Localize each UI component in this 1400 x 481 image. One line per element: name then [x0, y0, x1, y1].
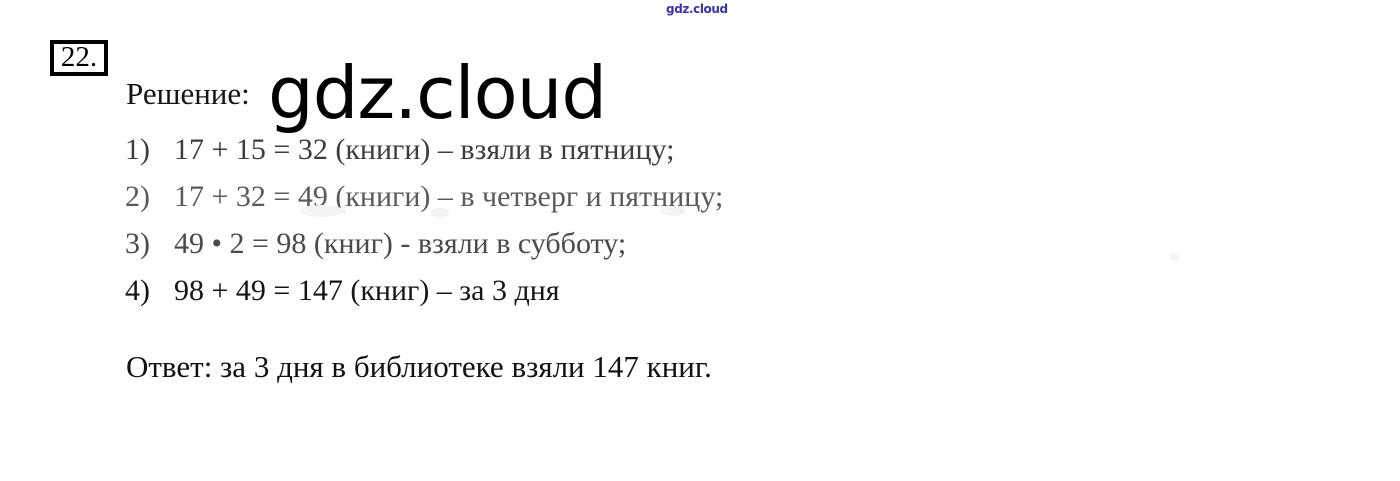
- step-expression: 17 + 32 = 49 (книги) – в четверг и пятни…: [174, 180, 723, 213]
- step-index: 3): [125, 227, 150, 260]
- step-expression: 49 • 2 = 98 (книг) - взяли в субботу;: [174, 227, 626, 260]
- solution-step: 3) 49 • 2 = 98 (книг) - взяли в субботу;: [125, 220, 1225, 267]
- solution-step: 4) 98 + 49 = 147 (книг) – за 3 дня: [125, 267, 1225, 314]
- step-index: 1): [125, 133, 150, 166]
- solution-heading: Решение:: [126, 78, 250, 109]
- scan-artifact: [660, 206, 686, 216]
- scan-artifact: [300, 205, 344, 217]
- step-expression: 98 + 49 = 147 (книг) – за 3 дня: [174, 274, 560, 307]
- step-index: 4): [125, 274, 150, 307]
- exercise-number-label: 22.: [61, 43, 97, 74]
- step-expression: 17 + 15 = 32 (книги) – взяли в пятницу;: [174, 133, 674, 166]
- exercise-number-box: 22.: [50, 40, 108, 76]
- answer-line: Ответ: за 3 дня в библиотеке взяли 147 к…: [126, 350, 712, 384]
- worksheet-page: gdz.cloud 22. Решение: gdz.cloud 1) 17 +…: [0, 0, 1400, 481]
- scan-artifact: [430, 208, 450, 218]
- solution-steps: 1) 17 + 15 = 32 (книги) – взяли в пятниц…: [125, 126, 1225, 314]
- step-index: 2): [125, 180, 150, 213]
- scan-artifact: [1170, 253, 1180, 261]
- watermark-top: gdz.cloud: [666, 2, 728, 16]
- watermark-overlay: gdz.cloud: [268, 57, 606, 129]
